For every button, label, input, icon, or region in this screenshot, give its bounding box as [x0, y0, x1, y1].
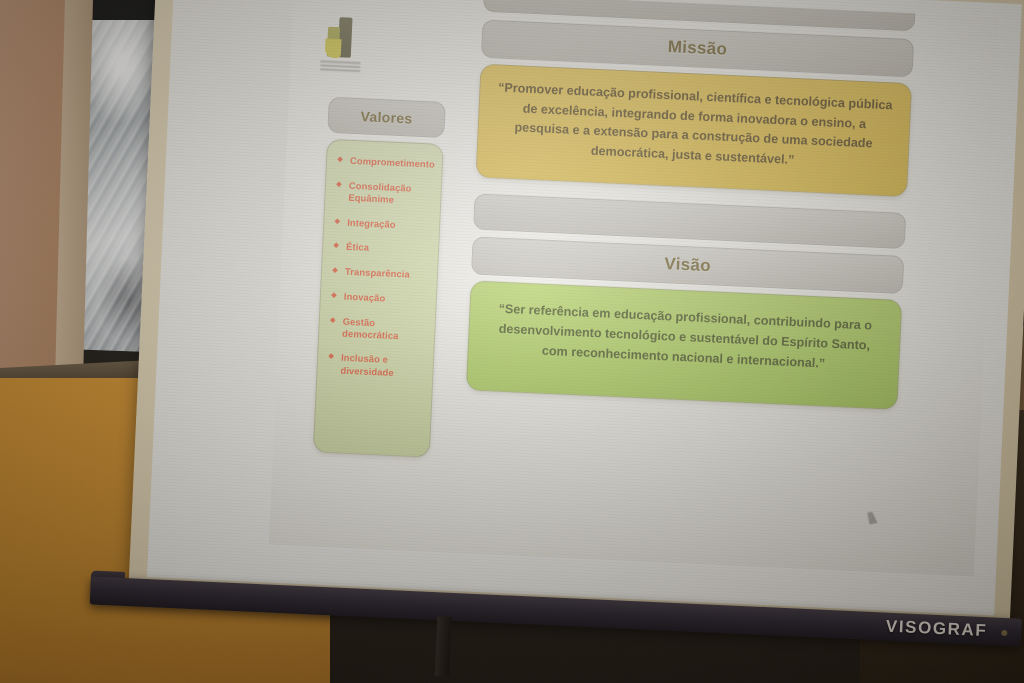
projected-slide: Missão “Promover educação profissional, … — [269, 0, 1000, 577]
screen-stand-leg — [435, 616, 452, 677]
valores-item: Gestão democrática — [329, 315, 427, 344]
projector-screen-assembly: Missão “Promover educação profissional, … — [65, 0, 986, 683]
valores-header-bar: Valores — [327, 97, 446, 138]
valores-item: Comprometimento — [337, 154, 434, 171]
valores-panel: Comprometimento Consolidação Equânime In… — [313, 139, 444, 458]
logo-caption — [320, 60, 361, 74]
valores-item: Inovação — [331, 290, 428, 307]
valores-item: Consolidação Equânime — [335, 179, 433, 208]
valores-item: Transparência — [332, 265, 429, 282]
valores-item: Inclusão e diversidade — [327, 351, 425, 380]
logo-block-yellow — [325, 39, 342, 59]
valores-list: Comprometimento Consolidação Equânime In… — [316, 140, 443, 403]
missao-body-text: “Promover educação profissional, científ… — [477, 65, 911, 188]
valores-item: Ética — [333, 240, 430, 257]
screen-brand-label: VISOGRAF — [885, 617, 987, 642]
room-photo: Missão “Promover educação profissional, … — [0, 0, 1024, 683]
missao-panel: “Promover educação profissional, científ… — [475, 64, 912, 197]
visao-panel: “Ser referência em educação profissional… — [466, 280, 903, 409]
valores-item: Integração — [334, 216, 431, 233]
screen-surface: Missão “Promover educação profissional, … — [147, 0, 1022, 615]
visao-body-text: “Ser referência em educação profissional… — [468, 281, 902, 393]
mouse-pointer-icon — [867, 511, 877, 524]
screen-bar-dot — [1001, 630, 1007, 636]
ifes-logo — [318, 16, 364, 74]
